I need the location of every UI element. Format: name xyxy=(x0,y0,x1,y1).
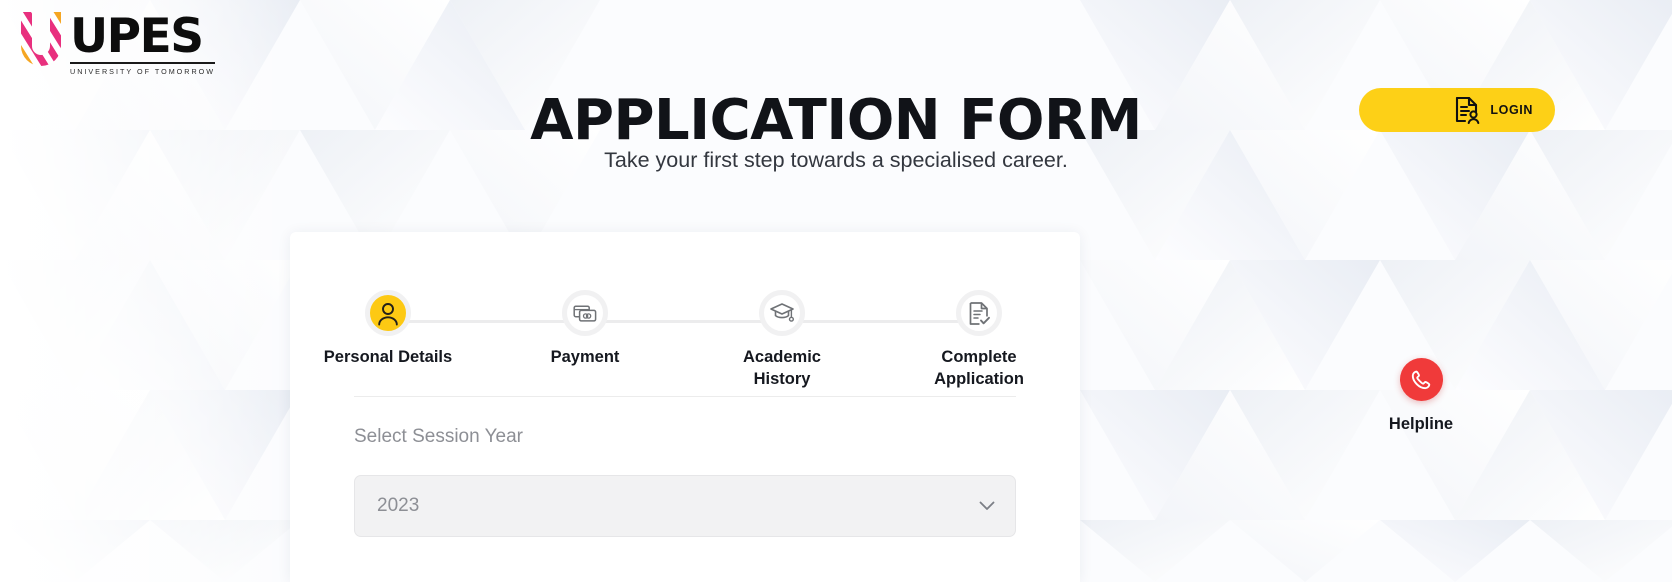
page-subtitle: Take your first step towards a specialis… xyxy=(0,148,1672,173)
helpline-widget[interactable]: Helpline xyxy=(1381,358,1461,434)
person-icon xyxy=(376,301,400,326)
step-1-label: Personal Details xyxy=(324,347,452,369)
step-3-label: Academic History xyxy=(717,347,847,391)
step-4-label: Complete Application xyxy=(914,347,1044,391)
step-2-label: Payment xyxy=(551,347,620,369)
login-button-label: LOGIN xyxy=(1490,103,1533,117)
phone-icon xyxy=(1410,369,1432,391)
step-complete-application[interactable]: Complete Application xyxy=(899,290,1059,391)
chevron-down-icon xyxy=(979,501,995,511)
document-check-icon xyxy=(968,301,991,326)
login-button[interactable]: LOGIN xyxy=(1359,88,1555,132)
credit-cards-icon xyxy=(573,302,597,324)
logo-wordmark: UPES xyxy=(70,14,215,60)
logo-divider-rule xyxy=(70,62,215,64)
session-year-value: 2023 xyxy=(377,495,979,517)
step-4-circle xyxy=(956,290,1002,336)
step-2-circle xyxy=(562,290,608,336)
application-form-card: Personal Details Payment xyxy=(290,232,1080,582)
step-payment[interactable]: Payment xyxy=(505,290,665,369)
graduation-cap-icon xyxy=(769,301,795,325)
step-1-circle xyxy=(365,290,411,336)
helpline-button[interactable] xyxy=(1400,358,1443,401)
card-divider xyxy=(354,396,1016,397)
step-3-circle xyxy=(759,290,805,336)
document-user-icon xyxy=(1454,96,1480,124)
application-form-page: UPES UNIVERSITY OF TOMORROW APPLICATION … xyxy=(0,0,1672,582)
step-personal-details[interactable]: Personal Details xyxy=(308,290,468,369)
helpline-label: Helpline xyxy=(1389,415,1453,434)
logo-tagline: UNIVERSITY OF TOMORROW xyxy=(70,67,215,76)
session-year-select[interactable]: 2023 xyxy=(354,475,1016,537)
progress-stepper: Personal Details Payment xyxy=(290,260,1080,400)
step-academic-history[interactable]: Academic History xyxy=(702,290,862,391)
upes-u-mark-icon xyxy=(16,10,66,72)
session-year-label: Select Session Year xyxy=(354,426,523,448)
upes-logo[interactable]: UPES UNIVERSITY OF TOMORROW xyxy=(16,10,215,76)
